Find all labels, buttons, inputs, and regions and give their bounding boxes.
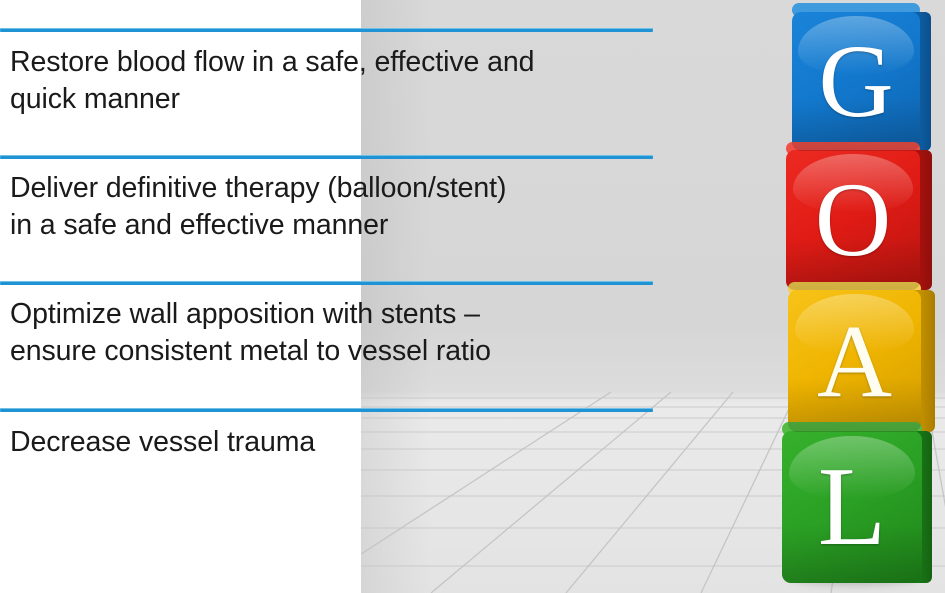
- bullet-item-4: Decrease vessel trauma: [10, 424, 670, 461]
- goal-block-stack: G O A L: [770, 0, 945, 593]
- bullet-item-1: Restore blood flow in a safe, effective …: [10, 44, 670, 118]
- block-l-letter: L: [818, 443, 886, 572]
- bullet-1-line-1: Restore blood flow in a safe, effective …: [10, 44, 670, 81]
- block-a-letter: A: [817, 302, 892, 421]
- bullet-1-line-2: quick manner: [10, 81, 670, 118]
- bullet-4-line-1: Decrease vessel trauma: [10, 424, 670, 461]
- block-o: O: [786, 150, 920, 290]
- block-g-letter: G: [818, 22, 893, 141]
- block-l: L: [782, 431, 922, 583]
- bullet-3-line-1: Optimize wall apposition with stents –: [10, 296, 670, 333]
- bullet-3-line-2: ensure consistent metal to vessel ratio: [10, 333, 670, 370]
- block-l-front-face: L: [782, 431, 922, 583]
- bullet-item-2: Deliver definitive therapy (balloon/sten…: [10, 170, 670, 244]
- block-a: A: [788, 290, 921, 432]
- bullet-item-3: Optimize wall apposition with stents – e…: [10, 296, 670, 370]
- separator-rule-3: [0, 282, 653, 285]
- separator-rule-2: [0, 156, 653, 159]
- separator-rule-4: [0, 409, 653, 412]
- bullet-2-line-1: Deliver definitive therapy (balloon/sten…: [10, 170, 670, 207]
- separator-rule-1: [0, 29, 653, 32]
- block-o-front-face: O: [786, 150, 920, 290]
- block-o-letter: O: [815, 159, 892, 281]
- block-g-front-face: G: [792, 12, 920, 151]
- bullet-2-line-2: in a safe and effective manner: [10, 207, 670, 244]
- block-a-front-face: A: [788, 290, 921, 432]
- slide-canvas: Restore blood flow in a safe, effective …: [0, 0, 945, 593]
- block-g: G: [792, 12, 920, 151]
